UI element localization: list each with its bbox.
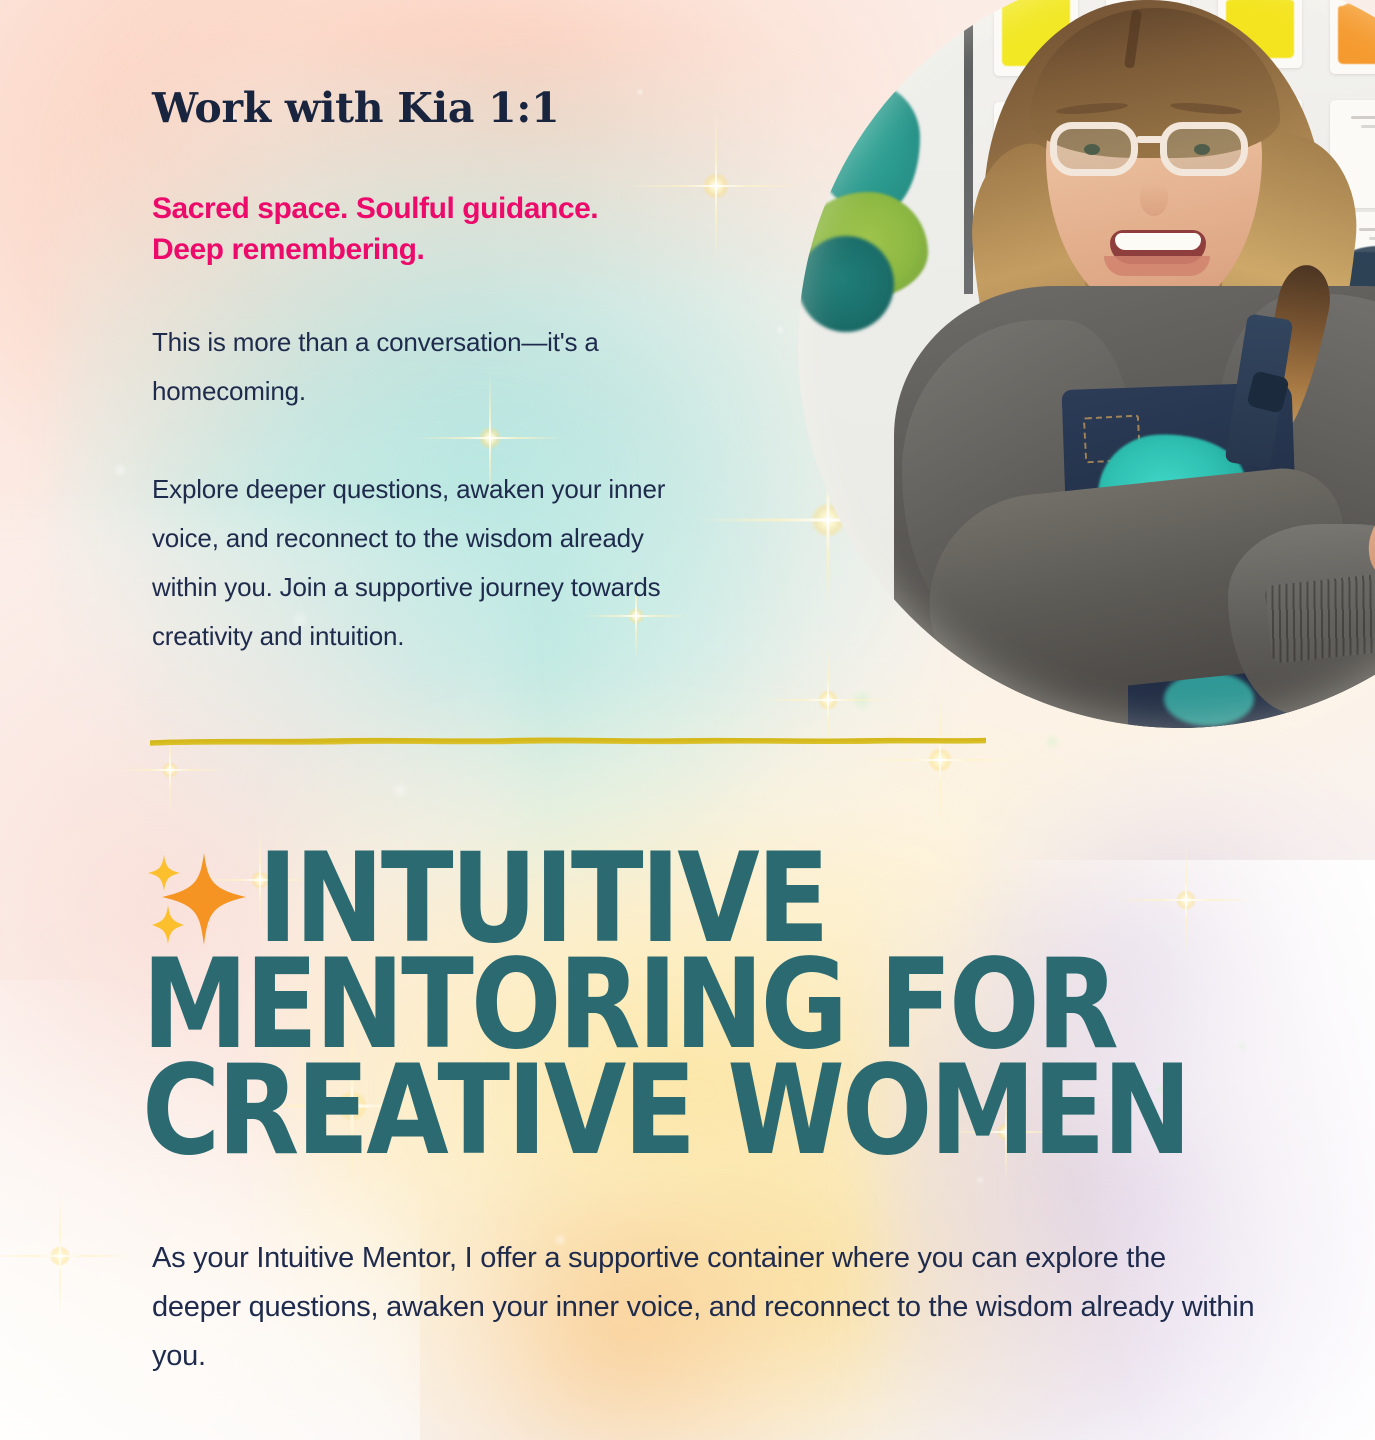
main-headline: INTUITIVE MENTORING FOR CREATIVE WOMEN — [142, 846, 1252, 1164]
kicker-heading: Work with Kia 1:1 — [152, 84, 559, 132]
intro-paragraph-1: This is more than a conversation—it's a … — [152, 318, 712, 416]
subheading: Sacred space. Soulful guidance. Deep rem… — [152, 188, 772, 271]
subheading-line-1: Sacred space. Soulful guidance. — [152, 188, 772, 229]
intro-paragraph-2: Explore deeper questions, awaken your in… — [152, 465, 712, 661]
poster-content: Work with Kia 1:1 Sacred space. Soulful … — [0, 0, 1375, 1440]
headline-line-3: CREATIVE WOMEN — [142, 1058, 1097, 1164]
closing-paragraph: As your Intuitive Mentor, I offer a supp… — [152, 1234, 1262, 1381]
gold-divider-line — [150, 736, 986, 747]
closing-body-text: As your Intuitive Mentor, I offer a supp… — [152, 1234, 1262, 1381]
intro-body-text: This is more than a conversation—it's a … — [152, 318, 712, 661]
subheading-line-2: Deep remembering. — [152, 229, 772, 270]
poster-canvas: Work with Kia 1:1 Sacred space. Soulful … — [0, 0, 1375, 1440]
